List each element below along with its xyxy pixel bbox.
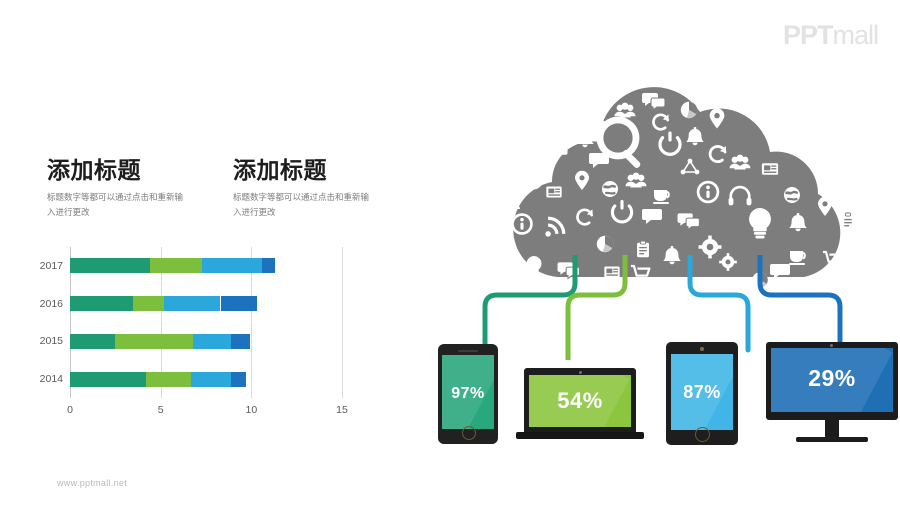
device-laptop: 54% [516,368,644,446]
column-2-subtitle: 标题数字等都可以通过点击和重新输入进行更改 [233,190,373,220]
chart-x-tick-label: 0 [67,404,73,416]
device-phone: 97% [438,344,498,444]
tablet-screen: 87% [671,354,733,430]
chart-category-label: 2014 [40,373,63,385]
chart-category-label: 2017 [40,260,63,272]
column-1-subtitle: 标题数字等都可以通过点击和重新输入进行更改 [47,190,187,220]
laptop-percent-label: 54% [529,388,631,414]
cable-phone [485,255,575,350]
coffee-cup-icon [589,109,605,123]
phone-screen: 97% [442,355,494,429]
text-column-1: 添加标题 标题数字等都可以通过点击和重新输入进行更改 [47,158,217,220]
globe-icon [784,187,800,203]
column-1-title: 添加标题 [47,158,217,183]
chart-bar-segment [146,372,191,387]
stacked-bar-chart: 0510152017201620152014 [26,247,346,422]
chart-bar-segment [70,258,150,273]
logo-mall-text: mall [832,20,878,50]
logo-ppt-text: PPT [783,20,833,50]
chart-bar-segment [202,258,262,273]
chart-category-label: 2015 [40,335,63,347]
chart-x-tick-label: 10 [245,404,257,416]
monitor-screen: 29% [771,348,893,412]
headphones-icon [474,218,496,235]
pptmall-logo: PPTmall [783,22,878,49]
phone-home-button[interactable] [462,426,476,440]
chart-bar [70,372,246,387]
newspaper-icon [546,187,561,198]
chart-bar [70,334,250,349]
people-icon [500,196,520,210]
monitor-neck [825,420,839,437]
device-monitor: 29% [766,342,898,447]
chart-bar-segment [191,372,231,387]
chart-category-label: 2016 [40,298,63,310]
chart-bar-segment [70,372,146,387]
device-group: 97% 54% 87% [430,338,880,448]
chart-gridline [342,247,343,398]
monitor-camera-icon [830,344,833,347]
chart-bar-segment [115,334,193,349]
chart-bar [70,296,257,311]
monitor-foot [796,437,868,442]
chart-x-tick-label: 5 [158,404,164,416]
device-tablet: 87% [666,342,738,445]
slide: PPTmall 添加标题 标题数字等都可以通过点击和重新输入进行更改 添加标题 … [0,0,900,506]
chart-bar-segment [231,372,246,387]
text-column-2: 添加标题 标题数字等都可以通过点击和重新输入进行更改 [233,158,403,220]
chart-bar [70,258,275,273]
chart-bar-segment [164,296,220,311]
chart-plot-area: 0510152017201620152014 [70,247,342,398]
chart-bar-segment [133,296,164,311]
tablet-percent-label: 87% [671,382,733,403]
chart-bar-segment [193,334,231,349]
chart-bar-segment [70,296,133,311]
cable-monitor [760,255,840,350]
laptop-screen: 54% [529,375,631,427]
monitor-bezel: 29% [766,342,898,420]
footer-url: www.pptmall.net [57,478,127,488]
chart-bar-segment [70,334,115,349]
phone-speaker [458,350,478,352]
chart-bar-segment [262,258,275,273]
newspaper-icon [762,163,778,175]
monitor-percent-label: 29% [771,365,893,392]
pie-chart-icon [597,236,613,252]
cloud-shape [513,87,840,277]
column-2-title: 添加标题 [233,158,403,183]
laptop-base [516,432,644,439]
chart-bar-segment [221,296,257,311]
chart-x-tick-label: 15 [336,404,348,416]
phone-percent-label: 97% [442,385,494,403]
laptop-camera-icon [579,371,582,374]
pie-chart-icon [681,102,697,118]
power-icon [524,168,542,188]
tablet-home-button[interactable] [695,427,710,442]
laptop-lid: 54% [524,368,636,432]
tablet-camera-icon [700,347,704,351]
globe-icon [602,181,618,197]
chart-bar-segment [150,258,203,273]
chart-bar-segment [231,334,249,349]
cable-tablet [690,255,748,350]
clipboard-icon [842,213,854,229]
